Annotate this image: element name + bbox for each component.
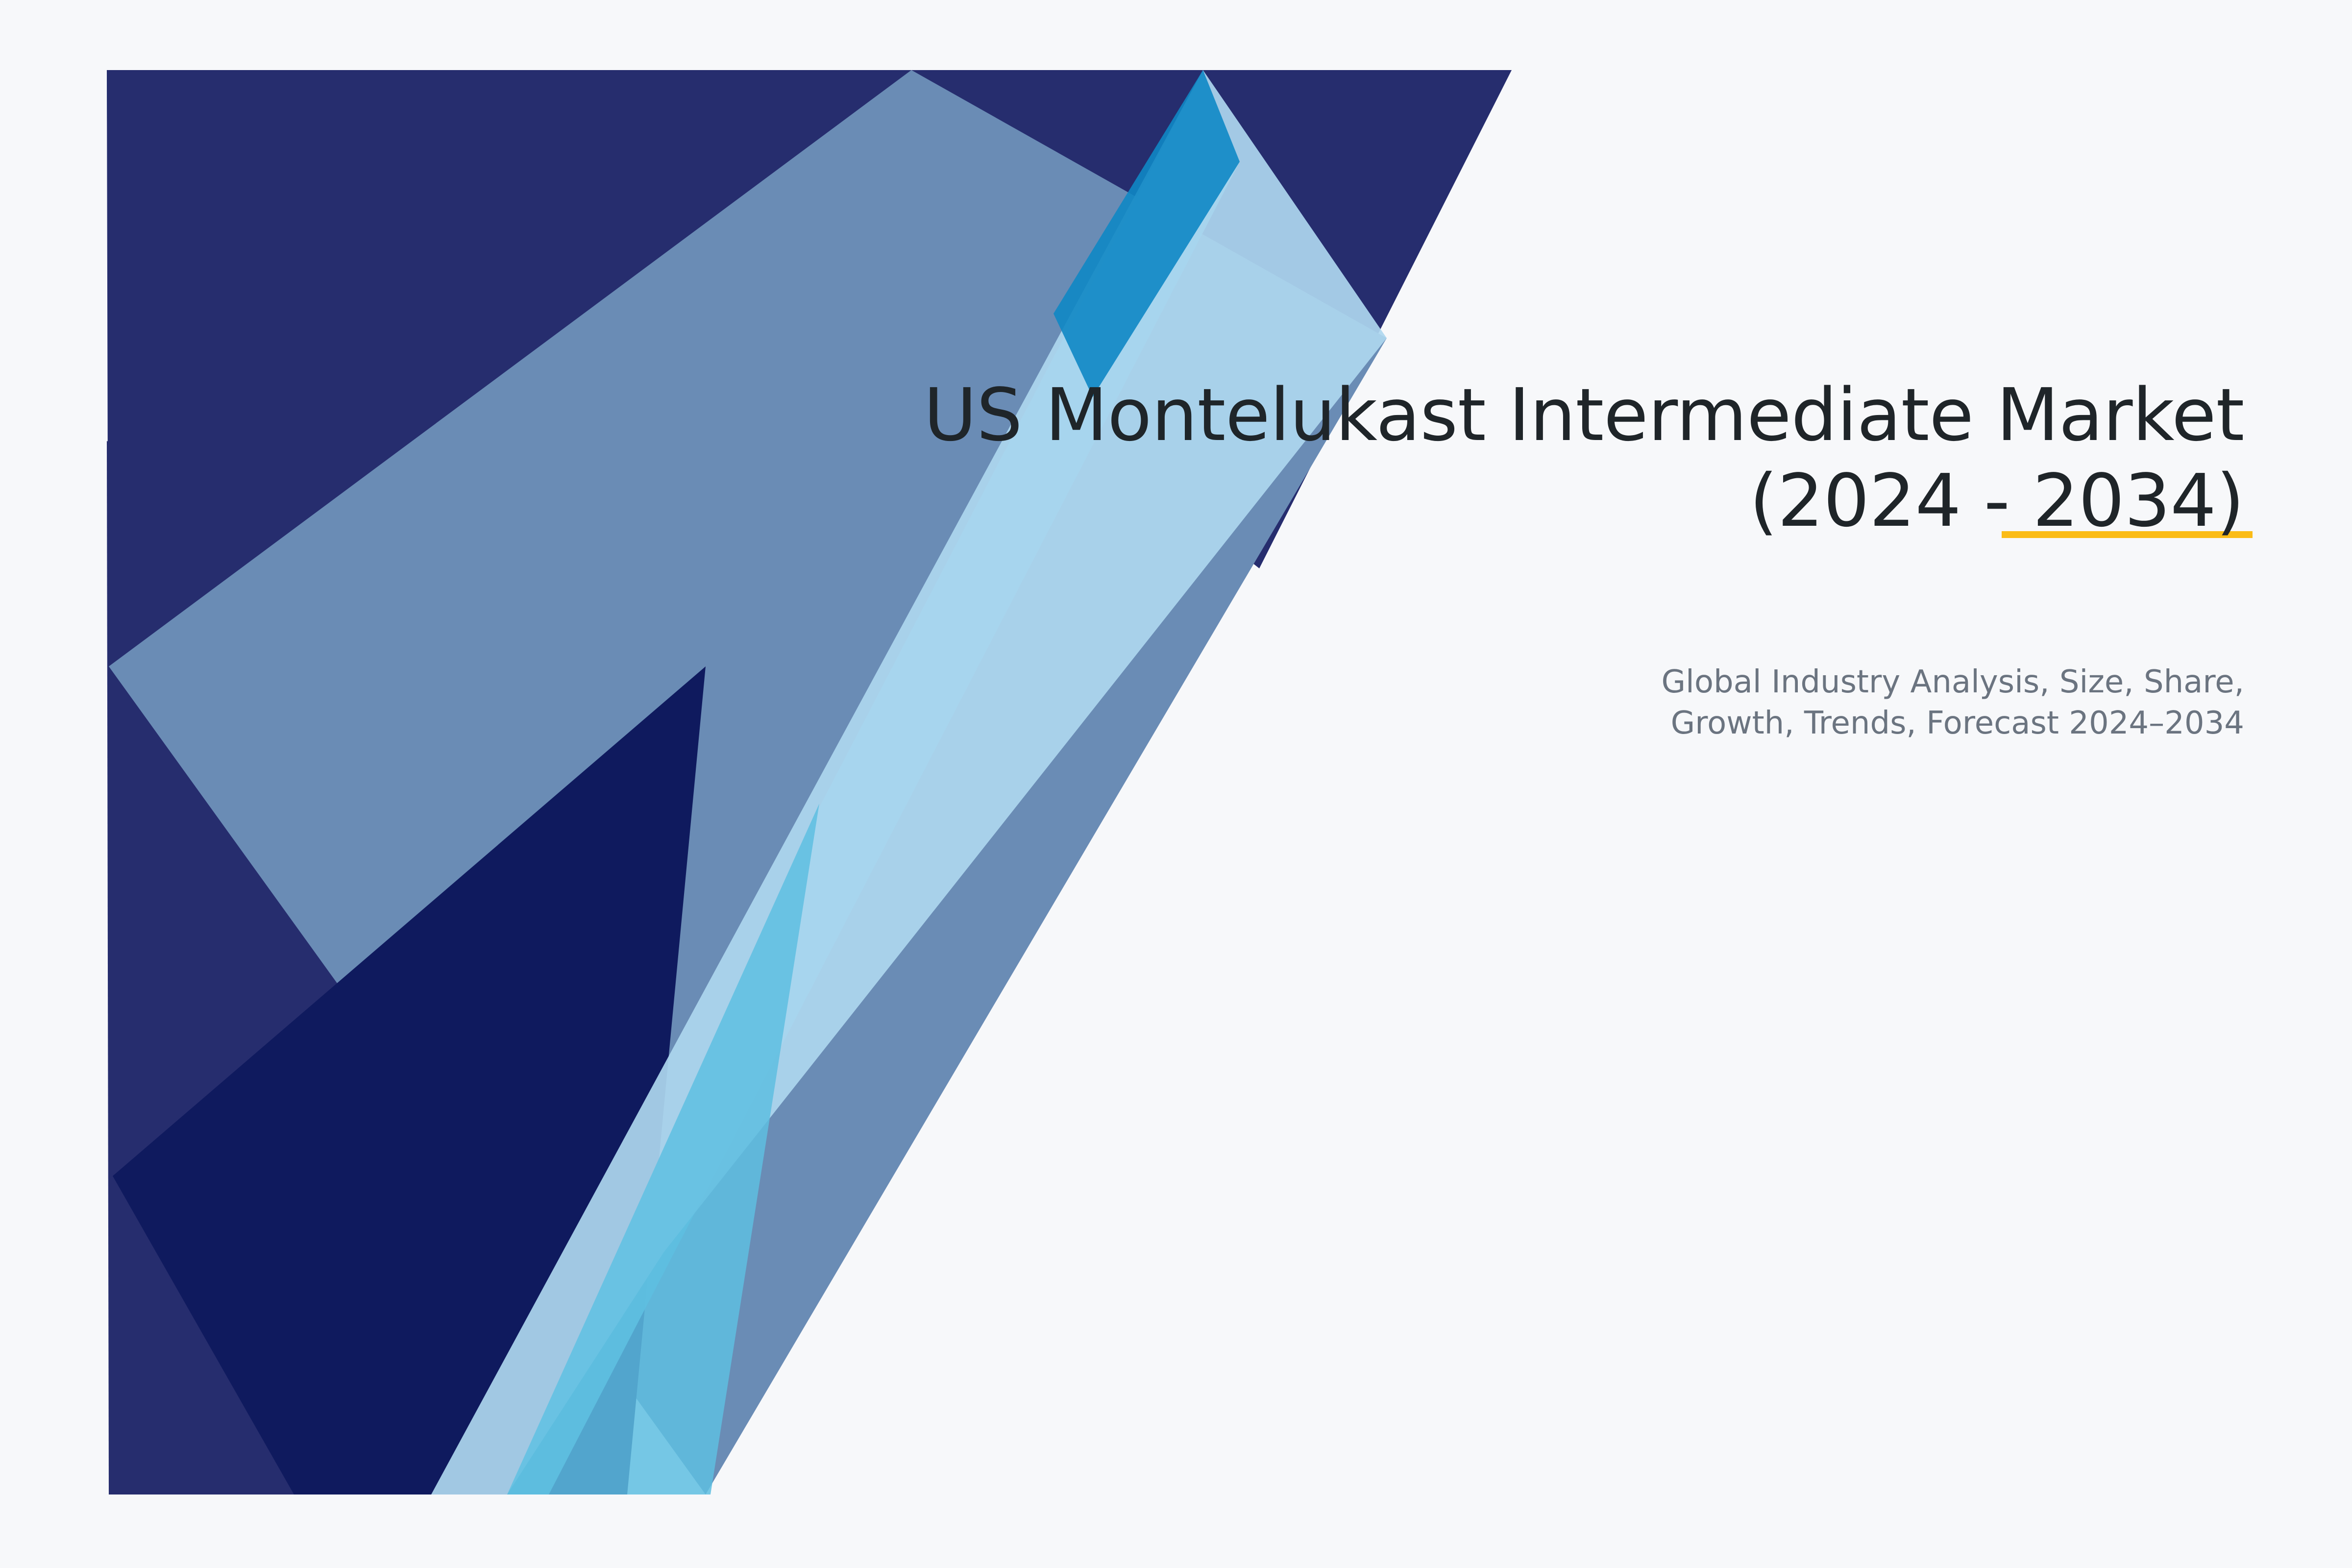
page-title-line-2: (2024 - 2034): [1749, 459, 2244, 543]
page-subtitle-line-1: Global Industry Analysis, Size, Share,: [1661, 664, 2244, 700]
page-subtitle: Global Industry Analysis, Size, Share, G…: [686, 661, 2244, 744]
report-cover: US Montelukast Intermediate Market (2024…: [0, 0, 2352, 1568]
title-block: US Montelukast Intermediate Market (2024…: [686, 372, 2244, 543]
page-subtitle-line-2: Growth, Trends, Forecast 2024–2034: [1671, 705, 2244, 741]
geometric-polygon-collage: [0, 0, 2352, 1568]
page-title-line-1: US Montelukast Intermediate Market: [924, 373, 2244, 457]
page-title: US Montelukast Intermediate Market (2024…: [686, 372, 2244, 543]
